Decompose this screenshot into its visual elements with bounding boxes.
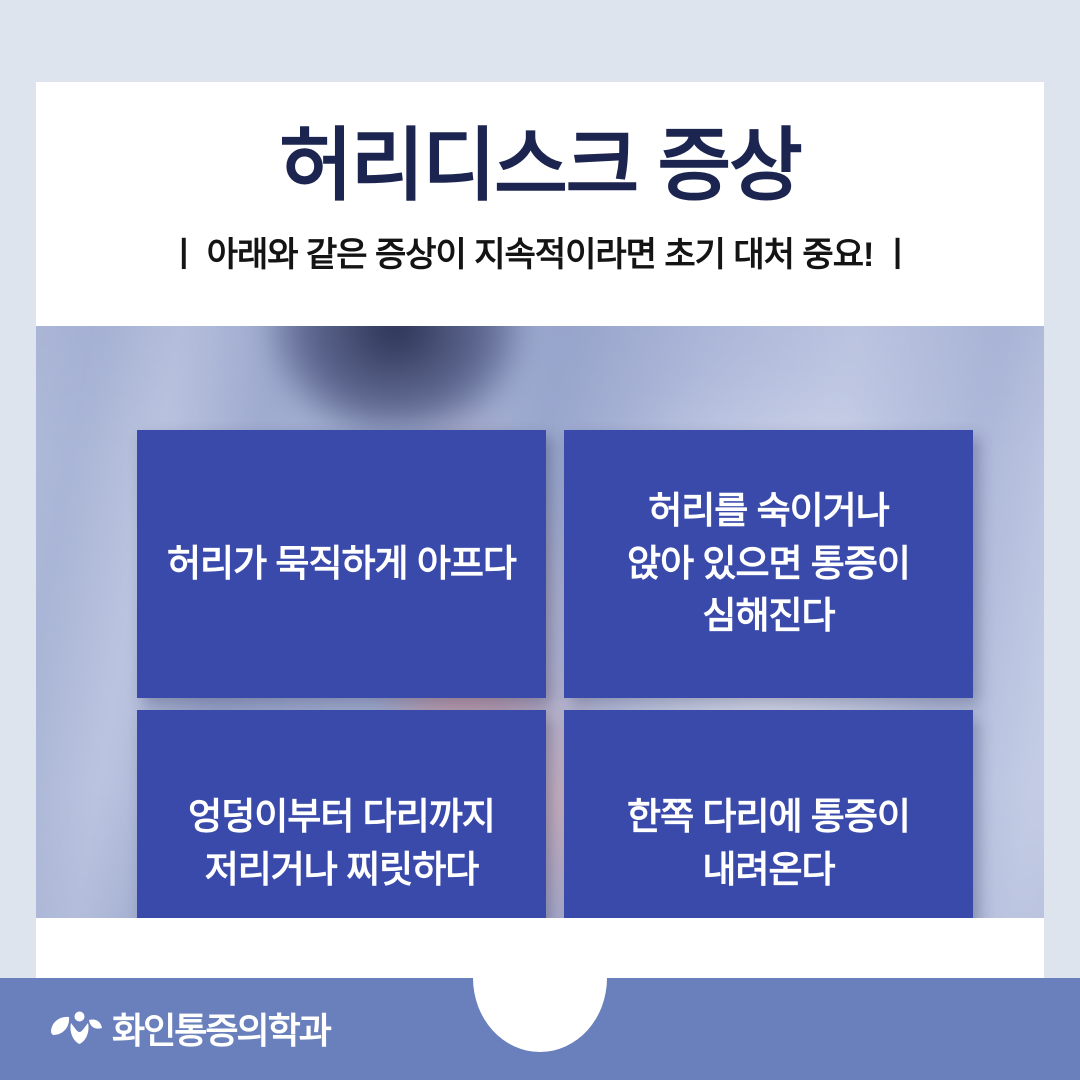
symptom-card-label: 허리가 묵직하게 아프다 bbox=[167, 538, 516, 591]
photo-band: 허리가 묵직하게 아프다 허리를 숙이거나 앉아 있으면 통증이 심해진다 엉덩… bbox=[36, 326, 1044, 918]
symptom-card-label: 엉덩이부터 다리까지 저리거나 찌릿하다 bbox=[188, 791, 495, 896]
symptom-grid: 허리가 묵직하게 아프다 허리를 숙이거나 앉아 있으면 통증이 심해진다 엉덩… bbox=[137, 430, 973, 918]
header: 허리디스크 증상 ㅣ 아래와 같은 증상이 지속적이라면 초기 대처 중요! ㅣ bbox=[36, 82, 1044, 326]
page-subtitle: ㅣ 아래와 같은 증상이 지속적이라면 초기 대처 중요! ㅣ bbox=[168, 238, 912, 272]
symptom-card-2[interactable]: 허리를 숙이거나 앉아 있으면 통증이 심해진다 bbox=[564, 430, 973, 698]
symptom-card-4[interactable]: 한쪽 다리에 통증이 내려온다 bbox=[564, 710, 973, 918]
content-card: 허리디스크 증상 ㅣ 아래와 같은 증상이 지속적이라면 초기 대처 중요! ㅣ… bbox=[36, 82, 1044, 978]
leaf-person-logo-icon bbox=[49, 1010, 103, 1052]
footer-logo-text: 화인통증의학과 bbox=[112, 1013, 330, 1049]
poster-root: 허리디스크 증상 ㅣ 아래와 같은 증상이 지속적이라면 초기 대처 중요! ㅣ… bbox=[0, 0, 1080, 1080]
symptom-card-3[interactable]: 엉덩이부터 다리까지 저리거나 찌릿하다 bbox=[137, 710, 546, 918]
page-title: 허리디스크 증상 bbox=[279, 126, 800, 206]
symptom-card-1[interactable]: 허리가 묵직하게 아프다 bbox=[137, 430, 546, 698]
footer-logo[interactable]: 화인통증의학과 bbox=[49, 1010, 330, 1052]
symptom-card-label: 한쪽 다리에 통증이 내려온다 bbox=[627, 791, 910, 896]
card-bottom-spacer bbox=[36, 918, 1044, 978]
symptom-card-label: 허리를 숙이거나 앉아 있으면 통증이 심해진다 bbox=[627, 485, 910, 643]
